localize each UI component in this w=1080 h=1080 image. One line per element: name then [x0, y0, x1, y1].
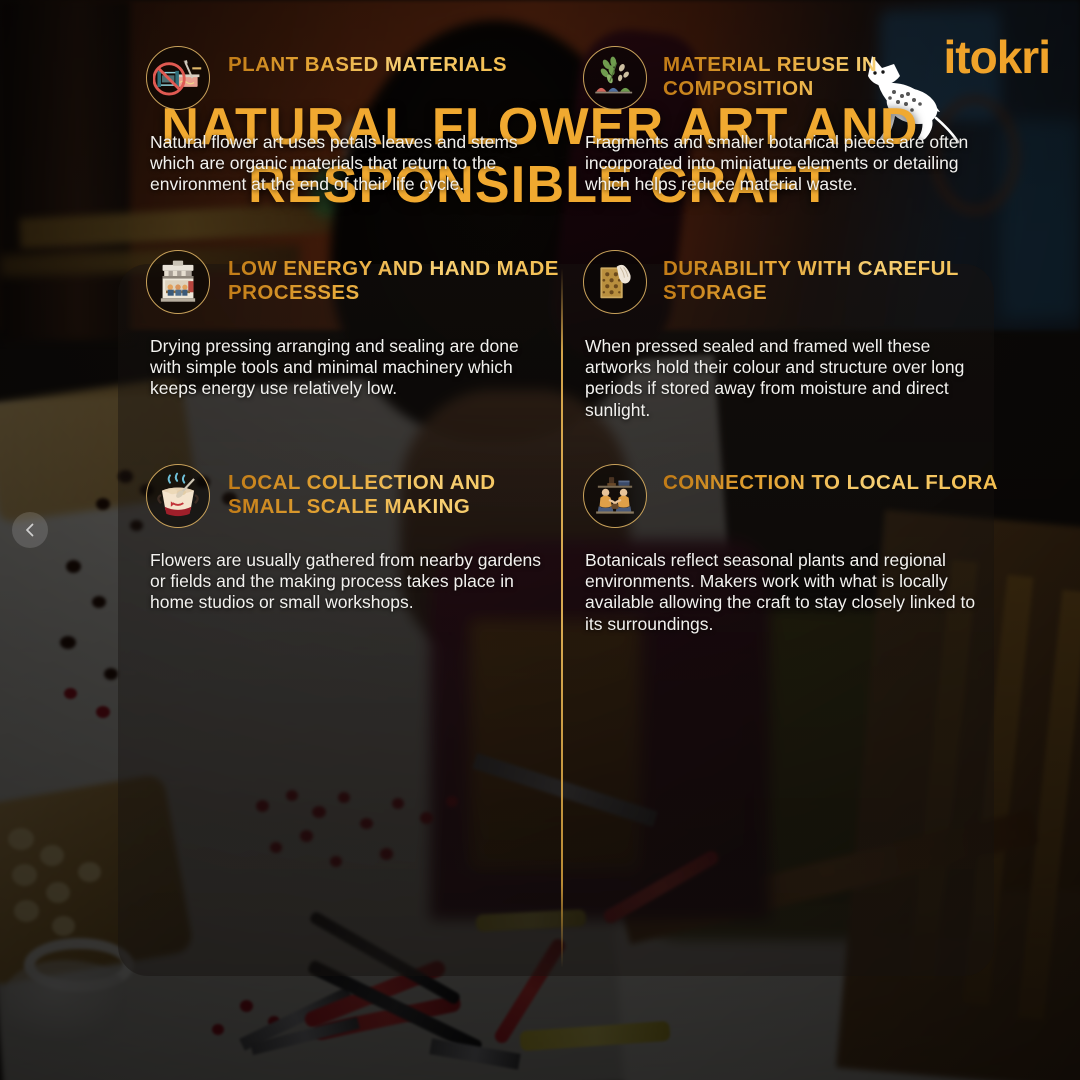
feature-title: LOCAL COLLECTION AND SMALL SCALE MAKING: [226, 464, 566, 519]
feature-body: Fragments and smaller botanical pieces a…: [583, 132, 987, 196]
two-artisans-seated-icon: [583, 464, 647, 528]
feature-header: CONNECTION TO LOCAL FLORA: [583, 464, 1003, 528]
feature-item: MATERIAL REUSE IN COMPOSITION Fragments …: [583, 46, 1003, 196]
feature-item: LOW ENERGY AND HAND MADE PROCESSES Dryin…: [146, 250, 566, 400]
feature-title: CONNECTION TO LOCAL FLORA: [663, 464, 998, 495]
leaves-and-pigment-piles-icon: [583, 46, 647, 110]
feature-title: DURABILITY WITH CAREFUL STORAGE: [663, 250, 1003, 305]
infographic-slide: itokri NATURAL FLOWER ART AND RESPONSIBL…: [0, 0, 1080, 1080]
chevron-left-icon: [21, 521, 39, 539]
feature-body: Flowers are usually gathered from nearby…: [146, 550, 550, 614]
feature-header: LOW ENERGY AND HAND MADE PROCESSES: [146, 250, 566, 314]
feature-body: Natural flower art uses petals leaves an…: [146, 132, 550, 196]
feature-header: PLANT BASED MATERIALS: [146, 46, 566, 110]
feature-item: PLANT BASED MATERIALS Natural flower art…: [146, 46, 566, 196]
steaming-dye-pot-icon: [146, 464, 210, 528]
feature-header: DURABILITY WITH CAREFUL STORAGE: [583, 250, 1003, 314]
feature-body: Drying pressing arranging and sealing ar…: [146, 336, 550, 400]
feature-header: MATERIAL REUSE IN COMPOSITION: [583, 46, 1003, 110]
feature-header: LOCAL COLLECTION AND SMALL SCALE MAKING: [146, 464, 566, 528]
feature-body: Botanicals reflect seasonal plants and r…: [583, 550, 987, 635]
feature-item: LOCAL COLLECTION AND SMALL SCALE MAKING …: [146, 464, 566, 614]
no-machine-prohibition-icon: [146, 46, 210, 110]
feature-item: CONNECTION TO LOCAL FLORA Botanicals ref…: [583, 464, 1003, 635]
feature-title: LOW ENERGY AND HAND MADE PROCESSES: [226, 250, 566, 305]
feature-title: MATERIAL REUSE IN COMPOSITION: [663, 46, 1003, 101]
hand-holding-printed-fabric-icon: [583, 250, 647, 314]
feature-body: When pressed sealed and framed well thes…: [583, 336, 987, 421]
carousel-prev-button[interactable]: [12, 512, 48, 548]
feature-title: PLANT BASED MATERIALS: [226, 46, 507, 77]
artisan-shopfront-icon: [146, 250, 210, 314]
feature-item: DURABILITY WITH CAREFUL STORAGE When pre…: [583, 250, 1003, 421]
